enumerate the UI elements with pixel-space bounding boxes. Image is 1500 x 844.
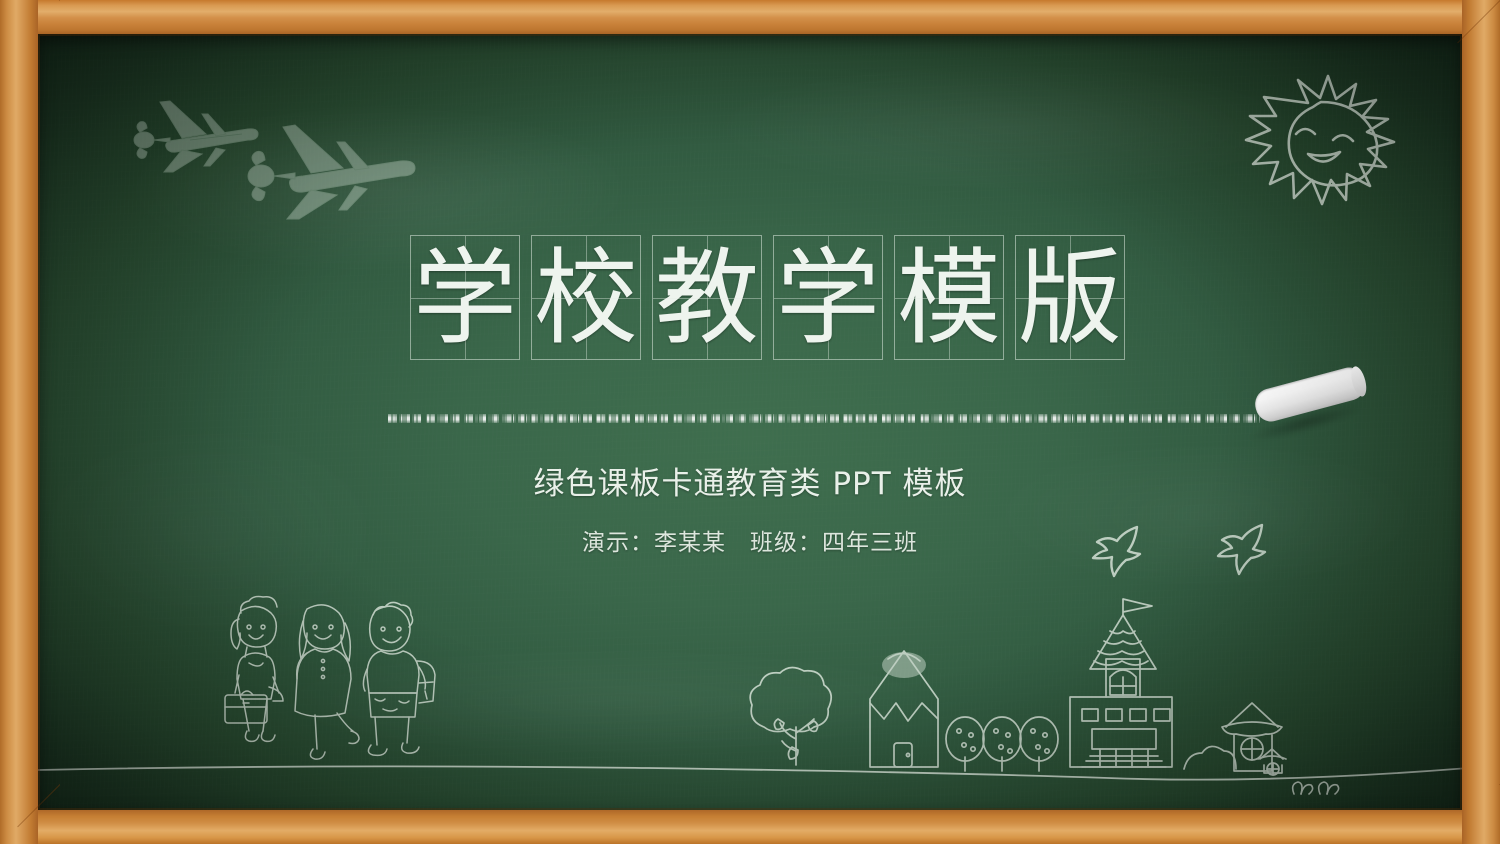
presentation-slide: 学 校 教 学 模 版 xyxy=(0,0,1500,844)
frame-bottom-rail xyxy=(0,810,1500,844)
frame-right-stile xyxy=(1462,0,1500,844)
frame-top-rail xyxy=(0,0,1500,34)
frame-left-stile xyxy=(0,0,38,844)
board-vignette xyxy=(38,34,1462,810)
chalkboard-surface: 学 校 教 学 模 版 xyxy=(38,34,1462,810)
